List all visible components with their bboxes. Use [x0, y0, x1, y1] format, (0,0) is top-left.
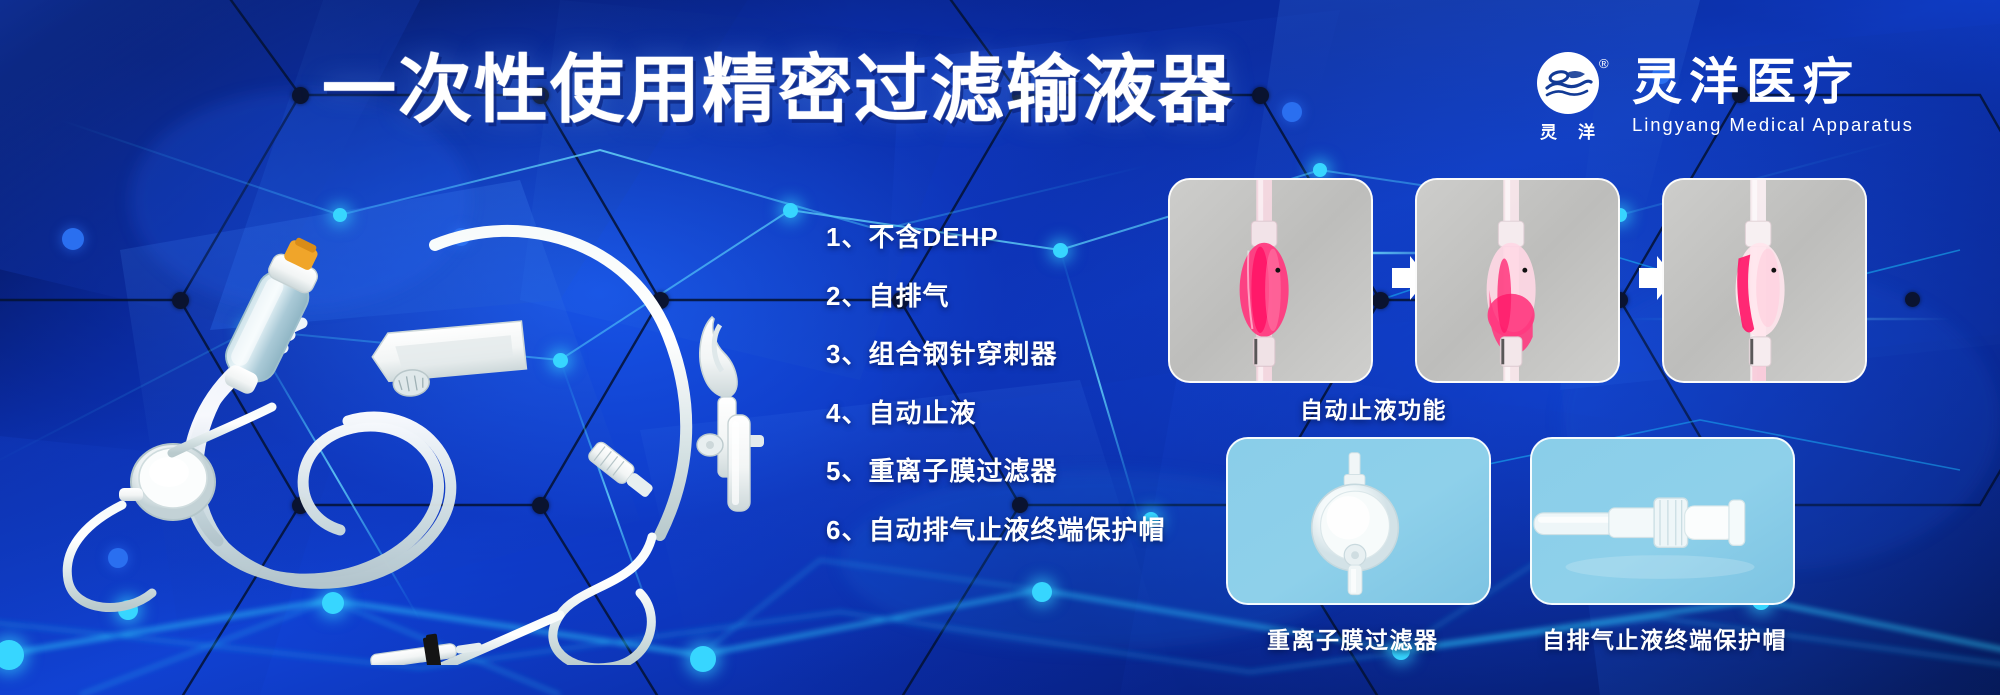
network-node-dim	[1282, 102, 1302, 122]
feature-item-4: 4、自动止液	[826, 398, 1165, 428]
network-node	[1905, 292, 1920, 307]
caption-protective-cap: 自排气止液终端保护帽	[1542, 621, 1787, 655]
panel-auto-stop-step-1	[1168, 178, 1373, 383]
feature-index-6: 6、	[826, 515, 868, 545]
feature-list: 1、不含DEHP 2、自排气 3、组合钢针穿刺器 4、自动止液 5、重离子膜过滤…	[826, 222, 1165, 545]
feature-item-2: 2、自排气	[826, 281, 1165, 311]
feature-label-4: 自动止液	[868, 398, 976, 428]
auto-stop-step-3-photo	[1664, 180, 1865, 381]
caption-auto-stop-function: 自动止液功能	[1300, 391, 1447, 425]
logo-text: 灵洋医疗 Lingyang Medical Apparatus	[1632, 55, 1914, 137]
feature-item-6: 6、自动排气止液终端保护帽	[826, 515, 1165, 545]
logo-char-left: 灵	[1540, 118, 1558, 143]
feature-label-2: 自排气	[868, 281, 949, 311]
feature-item-5: 5、重离子膜过滤器	[826, 456, 1165, 486]
network-node	[292, 87, 309, 104]
network-node	[1372, 292, 1389, 309]
feature-index-4: 4、	[826, 398, 868, 428]
feature-index-2: 2、	[826, 281, 868, 311]
product-banner: 一次性使用精密过滤输液器 ® 灵 洋 灵洋医疗 Lingyang Medica	[0, 0, 2000, 695]
feature-label-3: 组合钢针穿刺器	[868, 339, 1057, 369]
network-node-glow	[783, 203, 798, 218]
panel-auto-stop-step-2	[1415, 178, 1620, 383]
logo-char-right: 洋	[1578, 118, 1596, 143]
roller-clamp	[370, 319, 528, 400]
feature-label-6: 自动排气止液终端保护帽	[868, 515, 1165, 545]
page-title: 一次性使用精密过滤输液器	[322, 50, 1234, 130]
logo-mark: ® 灵 洋	[1522, 48, 1614, 143]
protective-cap	[728, 415, 750, 511]
auto-stop-step-2-photo	[1417, 180, 1618, 381]
feature-index-1: 1、	[826, 222, 868, 252]
company-name-en: Lingyang Medical Apparatus	[1632, 113, 1914, 137]
caption-heavy-ion-membrane-filter: 重离子膜过滤器	[1267, 621, 1439, 655]
inline-connector	[586, 440, 656, 502]
feature-index-5: 5、	[826, 456, 868, 486]
panel-protective-cap	[1530, 437, 1795, 605]
feature-index-3: 3、	[826, 339, 868, 369]
auto-stop-step-1-photo	[1170, 180, 1371, 381]
drip-chamber	[213, 231, 332, 401]
feature-label-1: 不含DEHP	[868, 222, 998, 252]
feature-item-3: 3、组合钢针穿刺器	[826, 339, 1165, 369]
network-node-glow	[0, 640, 24, 670]
network-node	[1252, 87, 1269, 104]
filter-disc	[119, 444, 215, 520]
network-node-glow	[1313, 163, 1327, 177]
feature-item-1: 1、不含DEHP	[826, 222, 1165, 252]
logo-circle-icon: ®	[1535, 48, 1601, 114]
protective-cap-photo	[1532, 439, 1793, 604]
panel-heavy-ion-membrane-filter	[1226, 437, 1491, 605]
network-node-glow	[1032, 582, 1052, 602]
company-name-cn: 灵洋医疗	[1632, 55, 1914, 109]
main-product-photo	[40, 185, 780, 665]
panel-auto-stop-step-3	[1662, 178, 1867, 383]
heavy-ion-membrane-filter-photo	[1228, 439, 1489, 604]
svg-text:®: ®	[1599, 56, 1609, 71]
feature-label-5: 重离子膜过滤器	[868, 456, 1057, 486]
logo-mark-label: 灵 洋	[1540, 118, 1596, 143]
brand-logo: ® 灵 洋 灵洋医疗 Lingyang Medical Apparatus	[1522, 48, 1914, 143]
